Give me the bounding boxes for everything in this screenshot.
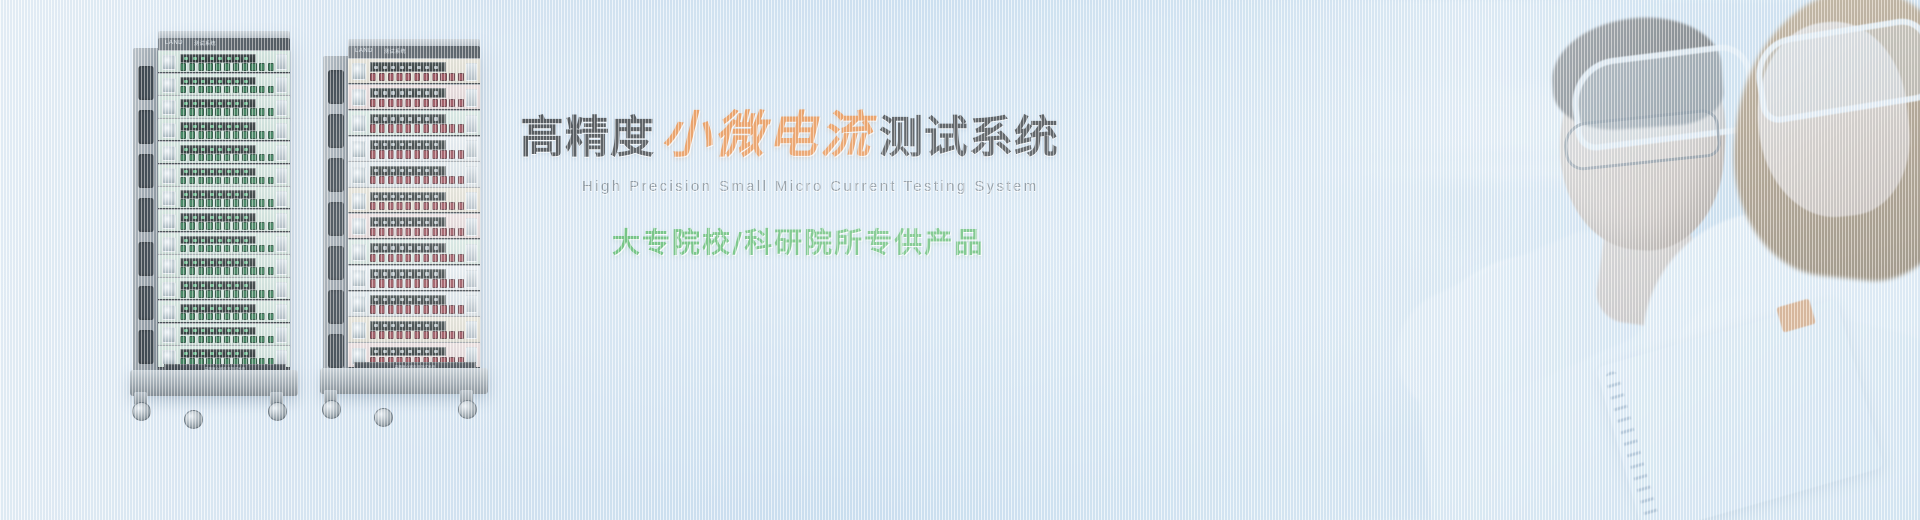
rack-unit-port (396, 124, 402, 132)
rack-right-frame (348, 46, 480, 376)
rack-unit-port (370, 279, 376, 287)
rack-unit-knob (162, 100, 176, 115)
display-segment (408, 195, 412, 198)
rack-rail-vent (138, 242, 154, 276)
display-segment (201, 261, 205, 264)
rack-unit-knob (162, 259, 176, 274)
display-segment (408, 117, 412, 120)
rack-unit-port (396, 279, 402, 287)
display-segment (193, 170, 197, 173)
rack-unit-port (268, 267, 274, 275)
rack-unit-port (259, 222, 265, 230)
rack-unit-port (396, 73, 402, 81)
rack-unit-port (388, 124, 394, 132)
display-segment (434, 246, 438, 249)
rack-unit-knob (162, 55, 176, 70)
rack-unit-handle (466, 270, 477, 288)
display-segment (210, 170, 214, 173)
rack-unit-port (233, 63, 239, 71)
rack-unit-port (250, 63, 256, 71)
rack-unit-port (206, 267, 212, 275)
display-segment (383, 272, 387, 275)
rack-unit-port (189, 267, 195, 275)
rack-unit-port (233, 313, 239, 321)
rack-unit-port (414, 254, 420, 262)
rack-unit-port-row (179, 130, 277, 138)
rack-unit-knob (352, 244, 366, 261)
rack-unit-port (189, 154, 195, 162)
display-segment (417, 143, 421, 146)
display-segment (408, 143, 412, 146)
rack-unit-port (180, 222, 186, 230)
rack-rail-vent (138, 286, 154, 320)
rack-unit-port (259, 267, 265, 275)
rack-unit-port (189, 222, 195, 230)
display-segment (184, 125, 188, 128)
rack-rail-vent (328, 202, 344, 236)
rack-unit-port (233, 336, 239, 344)
rack-unit-port (458, 176, 464, 184)
rack-unit-port (388, 73, 394, 81)
rack-unit (348, 316, 480, 342)
rack-unit-port (458, 202, 464, 210)
rack-unit-port (259, 313, 265, 321)
display-segment (391, 221, 395, 224)
rack-unit-port (206, 131, 212, 139)
rack-unit-port (242, 222, 248, 230)
display-segment (391, 324, 395, 327)
display-segment (193, 284, 197, 287)
rack-unit-port (423, 279, 429, 287)
display-segment (400, 246, 404, 249)
display-segment (244, 57, 248, 60)
display-segment (383, 117, 387, 120)
rack-unit-port (458, 305, 464, 313)
rack-unit-port (379, 254, 385, 262)
rack-unit-knob (352, 270, 366, 287)
rack-right-brand-label: LAND (355, 48, 373, 54)
rack-unit-port (180, 86, 186, 94)
rack-unit-port (423, 305, 429, 313)
display-segment (425, 221, 429, 224)
rack-unit (348, 84, 480, 110)
display-segment (235, 329, 239, 332)
display-segment (417, 221, 421, 224)
display-segment (201, 216, 205, 219)
rack-unit-port (233, 199, 239, 207)
display-segment (400, 66, 404, 69)
display-segment (227, 216, 231, 219)
rack-unit-port (233, 108, 239, 116)
rack-unit-port (268, 313, 274, 321)
rack-unit-port (215, 86, 221, 94)
rack-unit-port (268, 63, 274, 71)
display-segment (218, 261, 222, 264)
rack-unit-port (224, 131, 230, 139)
display-segment (374, 298, 378, 301)
rack-unit-port (388, 202, 394, 210)
rack-unit-port (180, 63, 186, 71)
display-segment (244, 284, 248, 287)
rack-unit-port (189, 108, 195, 116)
rack-unit-port-row (179, 84, 277, 92)
rack-unit-port (224, 108, 230, 116)
rack-unit-port (224, 313, 230, 321)
display-segment (201, 102, 205, 105)
headline-suffix: 测试系统 (879, 112, 1059, 163)
display-segment (374, 324, 378, 327)
display-segment (244, 307, 248, 310)
display-segment (184, 352, 188, 355)
display-segment (400, 324, 404, 327)
display-segment (235, 239, 239, 242)
rack-unit-port (370, 73, 376, 81)
rack-left-frame (158, 38, 290, 378)
rack-unit-port (396, 99, 402, 107)
display-segment (201, 148, 205, 151)
rack-unit-port (224, 177, 230, 185)
rack-unit-port (405, 73, 411, 81)
display-segment (244, 80, 248, 83)
display-segment (210, 307, 214, 310)
display-segment (244, 125, 248, 128)
rack-unit-port-row (179, 198, 277, 206)
rack-unit-port (198, 199, 204, 207)
rack-unit (348, 187, 480, 213)
display-segment (218, 170, 222, 173)
rack-unit-port (432, 150, 438, 158)
display-segment (408, 66, 412, 69)
rack-unit-port-row (179, 311, 277, 319)
rack-unit-port (440, 99, 446, 107)
rack-unit-port (440, 331, 446, 339)
rack-unit-port (250, 86, 256, 94)
rack-unit-port (189, 86, 195, 94)
rack-unit-handle (276, 168, 287, 184)
equipment-rack-right: LAND 测试系统 高精度小微电流测试系统 (310, 22, 490, 422)
banner-subtitle-english: High Precision Small Micro Current Testi… (582, 178, 1140, 195)
rack-unit-knob (162, 123, 176, 138)
display-segment (227, 261, 231, 264)
rack-unit-port (379, 124, 385, 132)
display-segment (400, 117, 404, 120)
rack-unit-port (440, 124, 446, 132)
rack-unit-port (189, 290, 195, 298)
rack-unit-port (370, 99, 376, 107)
rack-unit (158, 209, 290, 232)
rack-unit-port (379, 73, 385, 81)
rack-unit-port (224, 199, 230, 207)
rack-unit-port-row (369, 123, 467, 133)
rack-unit-port-row (179, 62, 277, 70)
rack-unit-port (206, 86, 212, 94)
display-segment (227, 125, 231, 128)
display-segment (235, 148, 239, 151)
rack-unit (158, 254, 290, 277)
rack-unit-port (388, 279, 394, 287)
rack-unit-port (233, 86, 239, 94)
display-segment (210, 284, 214, 287)
display-segment (400, 298, 404, 301)
display-segment (184, 170, 188, 173)
display-segment (417, 66, 421, 69)
display-segment (184, 80, 188, 83)
rack-left-brand-label: LAND (165, 40, 183, 46)
rack-unit-port (224, 336, 230, 344)
display-segment (218, 193, 222, 196)
rack-unit-port (405, 228, 411, 236)
rack-unit-port (449, 73, 455, 81)
display-segment (184, 193, 188, 196)
rack-unit (158, 118, 290, 141)
rack-unit (158, 323, 290, 346)
display-segment (408, 169, 412, 172)
rack-unit-port-row (369, 71, 467, 81)
display-segment (417, 272, 421, 275)
rack-unit-port (242, 290, 248, 298)
rack-unit (158, 300, 290, 323)
rack-unit-port (414, 228, 420, 236)
display-segment (244, 216, 248, 219)
rack-unit-port (198, 313, 204, 321)
rack-unit-port (206, 313, 212, 321)
rack-rail-vent (138, 330, 154, 364)
display-segment (417, 117, 421, 120)
rack-unit-port (388, 176, 394, 184)
rack-unit-port (189, 63, 195, 71)
display-segment (227, 352, 231, 355)
rack-unit (158, 186, 290, 209)
rack-unit-port (432, 305, 438, 313)
display-segment (227, 57, 231, 60)
rack-unit-port-row (369, 226, 467, 236)
display-segment (193, 216, 197, 219)
rack-unit-port (198, 290, 204, 298)
display-segment (210, 102, 214, 105)
rack-unit-port-row (179, 221, 277, 229)
display-segment (244, 261, 248, 264)
display-segment (201, 193, 205, 196)
rack-unit-port (233, 290, 239, 298)
rack-unit-port (259, 154, 265, 162)
rack-unit-port (242, 108, 248, 116)
rack-unit-port (259, 108, 265, 116)
display-segment (201, 307, 205, 310)
rack-unit-port (198, 336, 204, 344)
display-segment (374, 169, 378, 172)
display-segment (184, 284, 188, 287)
rack-unit-port (414, 150, 420, 158)
display-segment (374, 246, 378, 249)
display-segment (383, 66, 387, 69)
rack-unit (158, 73, 290, 96)
rack-unit-port (206, 108, 212, 116)
rack-unit-port (432, 124, 438, 132)
display-segment (434, 221, 438, 224)
rack-unit-port (370, 124, 376, 132)
display-segment (383, 143, 387, 146)
display-segment (210, 352, 214, 355)
display-segment (210, 125, 214, 128)
rack-rail-vent (138, 154, 154, 188)
rack-unit-port (379, 228, 385, 236)
rack-unit-port (405, 150, 411, 158)
display-segment (391, 298, 395, 301)
rack-left-caster (132, 402, 151, 421)
rack-unit-knob (162, 327, 176, 342)
rack-unit-port (370, 176, 376, 184)
rack-unit-port (432, 331, 438, 339)
rack-unit-knob (352, 141, 366, 158)
rack-unit-port (215, 131, 221, 139)
display-segment (184, 216, 188, 219)
rack-unit-port (206, 199, 212, 207)
rack-unit-port (388, 150, 394, 158)
display-segment (193, 352, 197, 355)
rack-unit-port (198, 154, 204, 162)
rack-unit-port (259, 245, 265, 253)
rack-rail-vent (328, 334, 344, 368)
display-segment (244, 148, 248, 151)
rack-unit-port (259, 199, 265, 207)
display-segment (244, 329, 248, 332)
rack-unit-port (268, 86, 274, 94)
rack-unit-handle (276, 54, 287, 70)
rack-unit-handle (466, 140, 477, 158)
display-segment (244, 102, 248, 105)
display-segment (408, 246, 412, 249)
rack-unit (348, 110, 480, 136)
rack-right-caster (322, 400, 341, 419)
rack-unit-port (423, 73, 429, 81)
rack-unit-port (396, 305, 402, 313)
display-segment (210, 148, 214, 151)
rack-unit-handle (276, 77, 287, 93)
rack-unit-port (242, 267, 248, 275)
display-segment (218, 239, 222, 242)
rack-rail-vent (328, 158, 344, 192)
rack-unit-port (242, 245, 248, 253)
rack-unit-port (215, 108, 221, 116)
rack-unit-port (180, 199, 186, 207)
rack-unit-port-row (179, 175, 277, 183)
rack-unit-port (206, 245, 212, 253)
rack-unit-handle (466, 192, 477, 210)
display-segment (227, 329, 231, 332)
rack-unit-port (268, 336, 274, 344)
rack-unit-port (242, 154, 248, 162)
display-segment (408, 91, 412, 94)
rack-rail-vent (328, 70, 344, 104)
rack-unit-port (396, 150, 402, 158)
display-segment (227, 307, 231, 310)
rack-unit-port-row (369, 304, 467, 314)
display-segment (235, 57, 239, 60)
rack-unit-port (215, 290, 221, 298)
display-segment (374, 117, 378, 120)
lab-researchers-photo (1160, 0, 1920, 520)
display-segment (391, 246, 395, 249)
rack-unit-port (370, 254, 376, 262)
rack-right-caster (374, 408, 393, 427)
display-segment (227, 148, 231, 151)
rack-left-caster (268, 402, 287, 421)
display-segment (201, 239, 205, 242)
display-segment (244, 193, 248, 196)
display-segment (193, 307, 197, 310)
rack-unit-port (440, 254, 446, 262)
rack-unit-port (250, 222, 256, 230)
rack-unit-port (423, 150, 429, 158)
rack-unit-port (242, 313, 248, 321)
rack-unit-port (250, 245, 256, 253)
rack-unit-port (180, 177, 186, 185)
rack-unit-port (189, 177, 195, 185)
rack-unit-port (180, 267, 186, 275)
rack-unit-port (242, 336, 248, 344)
rack-unit-port (250, 290, 256, 298)
display-segment (227, 239, 231, 242)
rack-unit-handle (276, 282, 287, 298)
rack-unit-port (250, 177, 256, 185)
rack-unit-port (458, 254, 464, 262)
banner-text-block: 高精度小微电流测试系统 High Precision Small Micro C… (520, 110, 1140, 261)
rack-unit-port (370, 202, 376, 210)
display-segment (383, 298, 387, 301)
display-segment (391, 91, 395, 94)
display-segment (210, 57, 214, 60)
rack-unit-port (206, 154, 212, 162)
display-segment (210, 216, 214, 219)
rack-unit (348, 161, 480, 187)
rack-unit-port (449, 305, 455, 313)
display-segment (235, 125, 239, 128)
rack-unit-port (224, 222, 230, 230)
rack-unit-port (198, 245, 204, 253)
display-segment (235, 284, 239, 287)
rack-unit-port (449, 202, 455, 210)
display-segment (400, 195, 404, 198)
rack-unit-handle (466, 295, 477, 313)
rack-unit-port (215, 336, 221, 344)
rack-unit-port (206, 177, 212, 185)
rack-unit-port (250, 199, 256, 207)
rack-unit-handle (276, 145, 287, 161)
rack-unit-port-row (369, 200, 467, 210)
rack-unit-knob (352, 218, 366, 235)
display-segment (391, 350, 395, 353)
rack-unit-handle (276, 259, 287, 275)
rack-unit-port-row (179, 334, 277, 342)
display-segment (374, 272, 378, 275)
rack-unit-port-row (369, 278, 467, 288)
rack-unit-port (259, 290, 265, 298)
rack-unit-port (198, 177, 204, 185)
rack-unit-port (224, 154, 230, 162)
rack-unit-port (432, 73, 438, 81)
display-segment (434, 169, 438, 172)
display-segment (400, 169, 404, 172)
rack-unit (158, 277, 290, 300)
rack-unit-port (432, 202, 438, 210)
display-segment (374, 91, 378, 94)
rack-unit-port (242, 63, 248, 71)
rack-unit-port (405, 279, 411, 287)
display-segment (235, 261, 239, 264)
display-segment (434, 66, 438, 69)
display-segment (425, 195, 429, 198)
display-segment (434, 324, 438, 327)
